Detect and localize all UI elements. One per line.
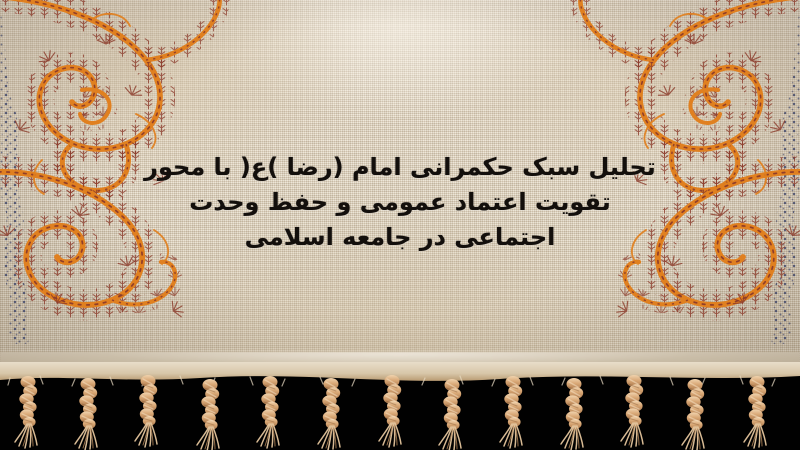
title-card-canvas: تحلیل سبک حکمرانی امام (رضا )ع( با محور … — [0, 0, 800, 450]
title-line-2: تقویت اعتماد عمومی و حفظ وحدت — [0, 185, 800, 220]
title-line-1: تحلیل سبک حکمرانی امام (رضا )ع( با محور — [0, 150, 800, 185]
black-backdrop-band — [0, 374, 800, 450]
title-line-3: اجتماعی در جامعه اسلامی — [0, 220, 800, 255]
page-title: تحلیل سبک حکمرانی امام (رضا )ع( با محور … — [0, 150, 800, 255]
